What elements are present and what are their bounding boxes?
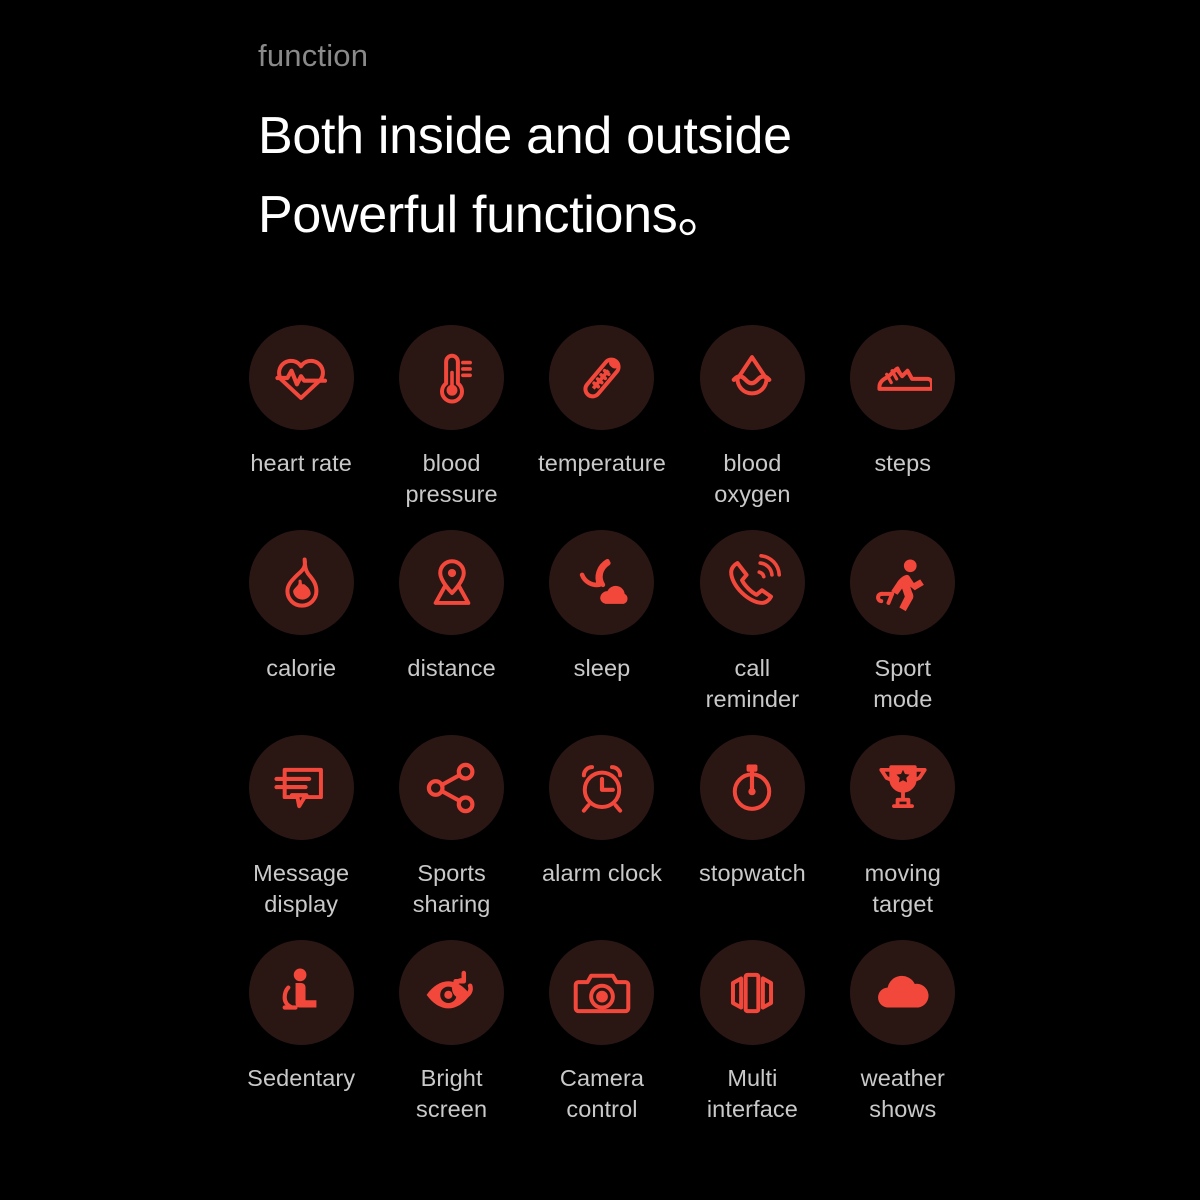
feature-item[interactable]: Camera control [527,940,677,1145]
map-pin-icon [399,530,504,635]
clinical-thermometer-icon [549,325,654,430]
blood-drop-icon [700,325,805,430]
running-person-icon [850,530,955,635]
feature-item[interactable]: weather shows [828,940,978,1145]
feature-label: heart rate [226,448,376,479]
page-title: Both inside and outside Powerful functio… [258,97,1058,255]
message-bubble-icon [249,735,354,840]
feature-label: blood oxygen [677,448,827,511]
alarm-clock-icon [549,735,654,840]
feature-label: steps [828,448,978,479]
flame-icon [249,530,354,635]
trophy-icon [850,735,955,840]
feature-label: temperature [527,448,677,479]
sneaker-icon [850,325,955,430]
feature-label: calorie [226,653,376,684]
feature-item[interactable]: Sports sharing [376,735,526,940]
section-eyebrow: function [258,40,1058,71]
feature-label: Sports sharing [377,858,527,921]
feature-item[interactable]: temperature [527,325,677,530]
carousel-cards-icon [700,940,805,1045]
feature-item[interactable]: Multi interface [677,940,827,1145]
feature-item[interactable]: steps [828,325,978,530]
feature-item[interactable]: distance [376,530,526,735]
feature-label: sleep [527,653,677,684]
phone-ring-icon [700,530,805,635]
function-feature-page: function Both inside and outside Powerfu… [0,0,1200,1200]
feature-item[interactable]: Sport mode [828,530,978,735]
feature-label: blood pressure [377,448,527,511]
stopwatch-icon [700,735,805,840]
feature-item[interactable]: alarm clock [527,735,677,940]
feature-item[interactable]: call reminder [677,530,827,735]
camera-icon [549,940,654,1045]
feature-item[interactable]: Bright screen [376,940,526,1145]
feature-label: Message display [226,858,376,921]
feature-item[interactable]: heart rate [226,325,376,530]
feature-item[interactable]: blood pressure [376,325,526,530]
feature-label: Bright screen [377,1063,527,1126]
feature-label: Multi interface [677,1063,827,1126]
sitting-person-icon [249,940,354,1045]
feature-label: call reminder [677,653,827,716]
feature-label: Sport mode [828,653,978,716]
feature-item[interactable]: stopwatch [677,735,827,940]
feature-label: stopwatch [677,858,827,889]
heart-rate-icon [249,325,354,430]
page-header: function Both inside and outside Powerfu… [258,40,1058,255]
feature-grid: heart rate blood pressure temperature bl… [226,325,978,1145]
feature-item[interactable]: calorie [226,530,376,735]
feature-item[interactable]: sleep [527,530,677,735]
feature-label: distance [377,653,527,684]
feature-label: Sedentary [226,1063,376,1094]
thermometer-icon [399,325,504,430]
feature-label: Camera control [527,1063,677,1126]
eye-refresh-icon [399,940,504,1045]
feature-item[interactable]: blood oxygen [677,325,827,530]
moon-cloud-icon [549,530,654,635]
cloud-icon [850,940,955,1045]
feature-item[interactable]: Sedentary [226,940,376,1145]
feature-label: alarm clock [527,858,677,889]
share-nodes-icon [399,735,504,840]
feature-item[interactable]: Message display [226,735,376,940]
feature-label: moving target [828,858,978,921]
feature-label: weather shows [828,1063,978,1126]
feature-item[interactable]: moving target [828,735,978,940]
